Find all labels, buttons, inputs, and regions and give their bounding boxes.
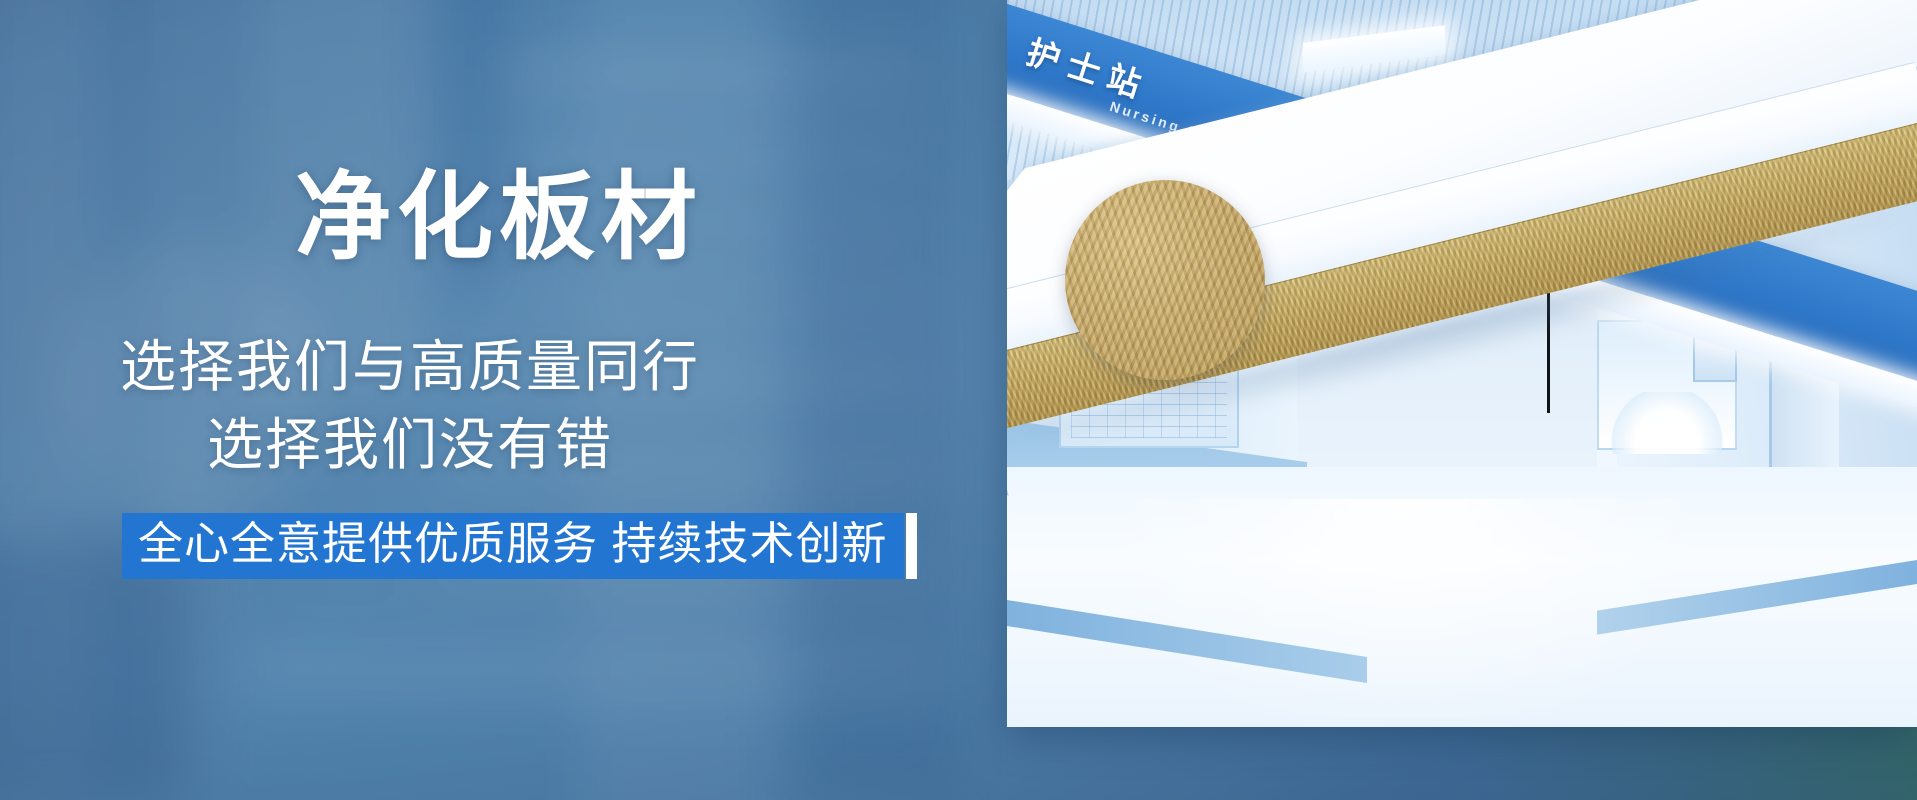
rock-wool-texture-closeup	[1065, 180, 1265, 380]
subtitle-line-1: 选择我们与高质量同行	[0, 322, 1000, 403]
banner-copy: 净化板材 选择我们与高质量同行 选择我们没有错 全心全意提供优质服务 持续技术创…	[0, 0, 1000, 800]
promo-banner: 净化板材 选择我们与高质量同行 选择我们没有错 全心全意提供优质服务 持续技术创…	[0, 0, 1917, 800]
page-title: 净化板材	[295, 168, 703, 269]
tagline-banner: 全心全意提供优质服务 持续技术创新	[122, 513, 917, 579]
tagline-text: 全心全意提供优质服务 持续技术创新	[122, 513, 904, 579]
product-photo: 老 勒 衣 护士站 Nursing Station	[1007, 0, 1917, 727]
corridor-plant	[1607, 392, 1727, 454]
subtitle-line-2: 选择我们没有错	[0, 400, 1000, 481]
tagline-accent-bar	[906, 513, 917, 579]
